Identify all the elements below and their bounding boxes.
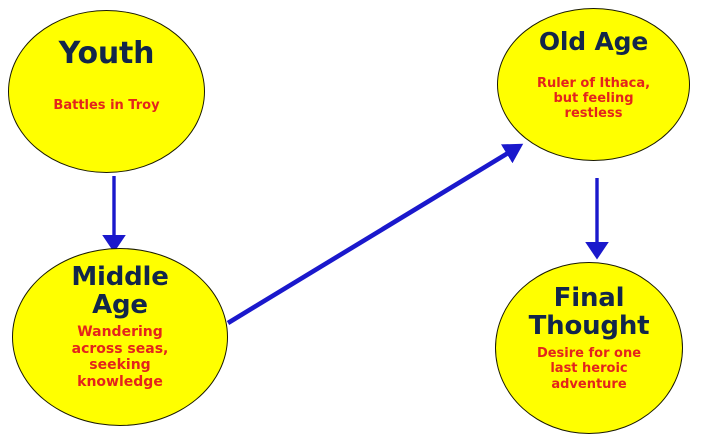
node-old-age[interactable]: Old Age Ruler of Ithaca, but feeling res…: [497, 8, 690, 161]
node-final-thought[interactable]: Final Thought Desire for one last heroic…: [495, 262, 683, 434]
node-youth-subtitle: Battles in Troy: [53, 98, 159, 113]
diagram-canvas: Youth Battles in Troy Middle Age Wanderi…: [0, 0, 703, 438]
node-final-thought-subtitle: Desire for one last heroic adventure: [537, 346, 641, 392]
node-middle-age-subtitle: Wandering across seas, seeking knowledge: [72, 324, 169, 390]
node-middle-age-title: Middle Age: [71, 264, 168, 319]
node-youth[interactable]: Youth Battles in Troy: [8, 10, 205, 173]
node-youth-title: Youth: [59, 38, 155, 70]
node-final-thought-title: Final Thought: [529, 285, 650, 340]
node-old-age-subtitle: Ruler of Ithaca, but feeling restless: [537, 76, 650, 122]
node-old-age-title: Old Age: [539, 29, 648, 56]
node-middle-age[interactable]: Middle Age Wandering across seas, seekin…: [12, 248, 228, 426]
edge-middle-age-to-old-age: [228, 150, 513, 323]
